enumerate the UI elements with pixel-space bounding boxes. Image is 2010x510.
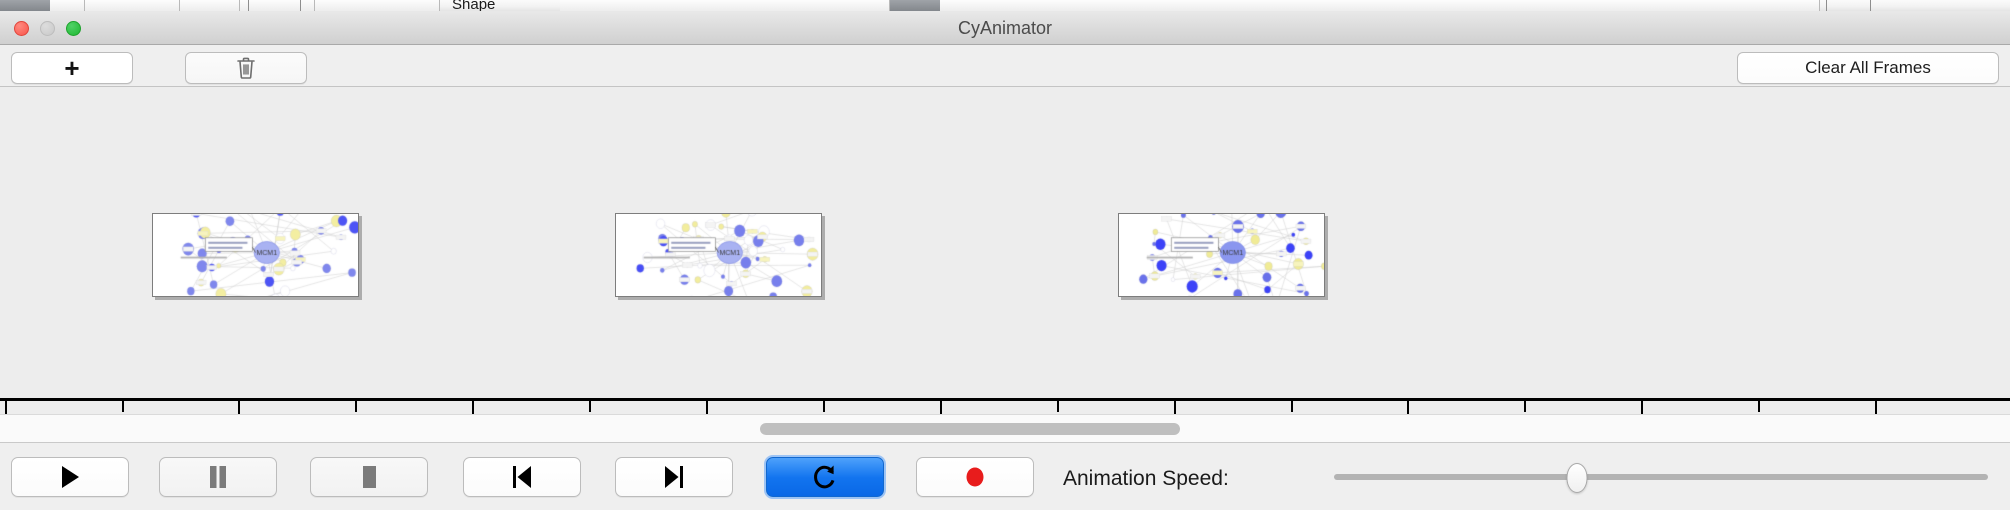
animation-speed-slider[interactable]: [1334, 467, 1988, 489]
title-bar: CyAnimator: [0, 11, 2010, 45]
timeline-axis: [0, 398, 2010, 401]
timeline-frame[interactable]: [152, 213, 359, 297]
axis-tick-major: [706, 401, 708, 414]
skip-previous-icon: [509, 464, 535, 490]
axis-tick-major: [1174, 401, 1176, 414]
axis-tick-minor: [589, 401, 591, 412]
bg-dark-seg: [890, 0, 940, 11]
frame-thumbnail-network-graph: [1119, 214, 1324, 296]
axis-tick-major: [1407, 401, 1409, 414]
axis-tick-major: [5, 401, 7, 414]
axis-tick-minor: [1524, 401, 1526, 412]
previous-frame-button[interactable]: [463, 457, 581, 497]
bg-seg: [85, 0, 180, 11]
axis-tick-major: [238, 401, 240, 414]
window-title: CyAnimator: [0, 18, 2010, 39]
axis-tick-minor: [355, 401, 357, 412]
toolbar: + Clear All Frames: [0, 45, 2010, 87]
record-icon: [963, 464, 987, 490]
bg-seg: [560, 0, 890, 11]
axis-tick-minor: [1758, 401, 1760, 412]
timeline-frame[interactable]: [615, 213, 822, 297]
pause-icon: [207, 464, 229, 490]
bg-dark-seg: [0, 0, 50, 11]
bg-seg: [240, 0, 315, 11]
bg-tick: [300, 0, 301, 11]
axis-tick-major: [1641, 401, 1643, 414]
slider-track: [1334, 474, 1988, 480]
clear-all-frames-label: Clear All Frames: [1805, 58, 1931, 78]
timeline-scrollbar[interactable]: [0, 414, 2010, 442]
axis-tick-minor: [1291, 401, 1293, 412]
plus-icon: +: [64, 55, 79, 81]
bg-tick: [1826, 0, 1827, 11]
play-button[interactable]: [11, 457, 129, 497]
delete-frame-button[interactable]: [185, 52, 307, 84]
stop-button[interactable]: [310, 457, 428, 497]
bg-seg: [315, 0, 440, 11]
loop-button[interactable]: [766, 457, 884, 497]
stop-icon: [358, 464, 380, 490]
cyanimator-window: Shape CyAnimator + Clear All Frames: [0, 0, 2010, 510]
next-frame-button[interactable]: [615, 457, 733, 497]
playback-control-bar: Animation Speed:: [0, 442, 2010, 510]
timeline-frame[interactable]: [1118, 213, 1325, 297]
scrollbar-thumb[interactable]: [760, 423, 1180, 435]
clear-all-frames-button[interactable]: Clear All Frames: [1737, 52, 1999, 84]
bg-seg: [50, 0, 85, 11]
axis-tick-major: [940, 401, 942, 414]
animation-speed-label: Animation Speed:: [1063, 467, 1229, 491]
axis-tick-major: [472, 401, 474, 414]
skip-next-icon: [661, 464, 687, 490]
axis-tick-minor: [1057, 401, 1059, 412]
axis-tick-minor: [823, 401, 825, 412]
record-button[interactable]: [916, 457, 1034, 497]
loop-icon: [812, 463, 838, 491]
slider-thumb[interactable]: [1567, 463, 1588, 493]
bg-seg: [180, 0, 240, 11]
axis-tick-major: [1875, 401, 1877, 414]
timeline-panel[interactable]: 2131415161718 Seconds: [0, 87, 2010, 414]
background-window-strip: Shape: [0, 0, 2010, 11]
pause-button[interactable]: [159, 457, 277, 497]
bg-seg: [940, 0, 1820, 11]
frame-thumbnail-network-graph: [616, 214, 821, 296]
add-frame-button[interactable]: +: [11, 52, 133, 84]
bg-tick: [1870, 0, 1871, 11]
axis-tick-minor: [122, 401, 124, 412]
background-window-label: Shape: [452, 0, 495, 11]
trash-icon: [235, 56, 257, 80]
frame-thumbnail-network-graph: [153, 214, 358, 296]
play-icon: [58, 464, 82, 490]
bg-tick: [248, 0, 249, 11]
